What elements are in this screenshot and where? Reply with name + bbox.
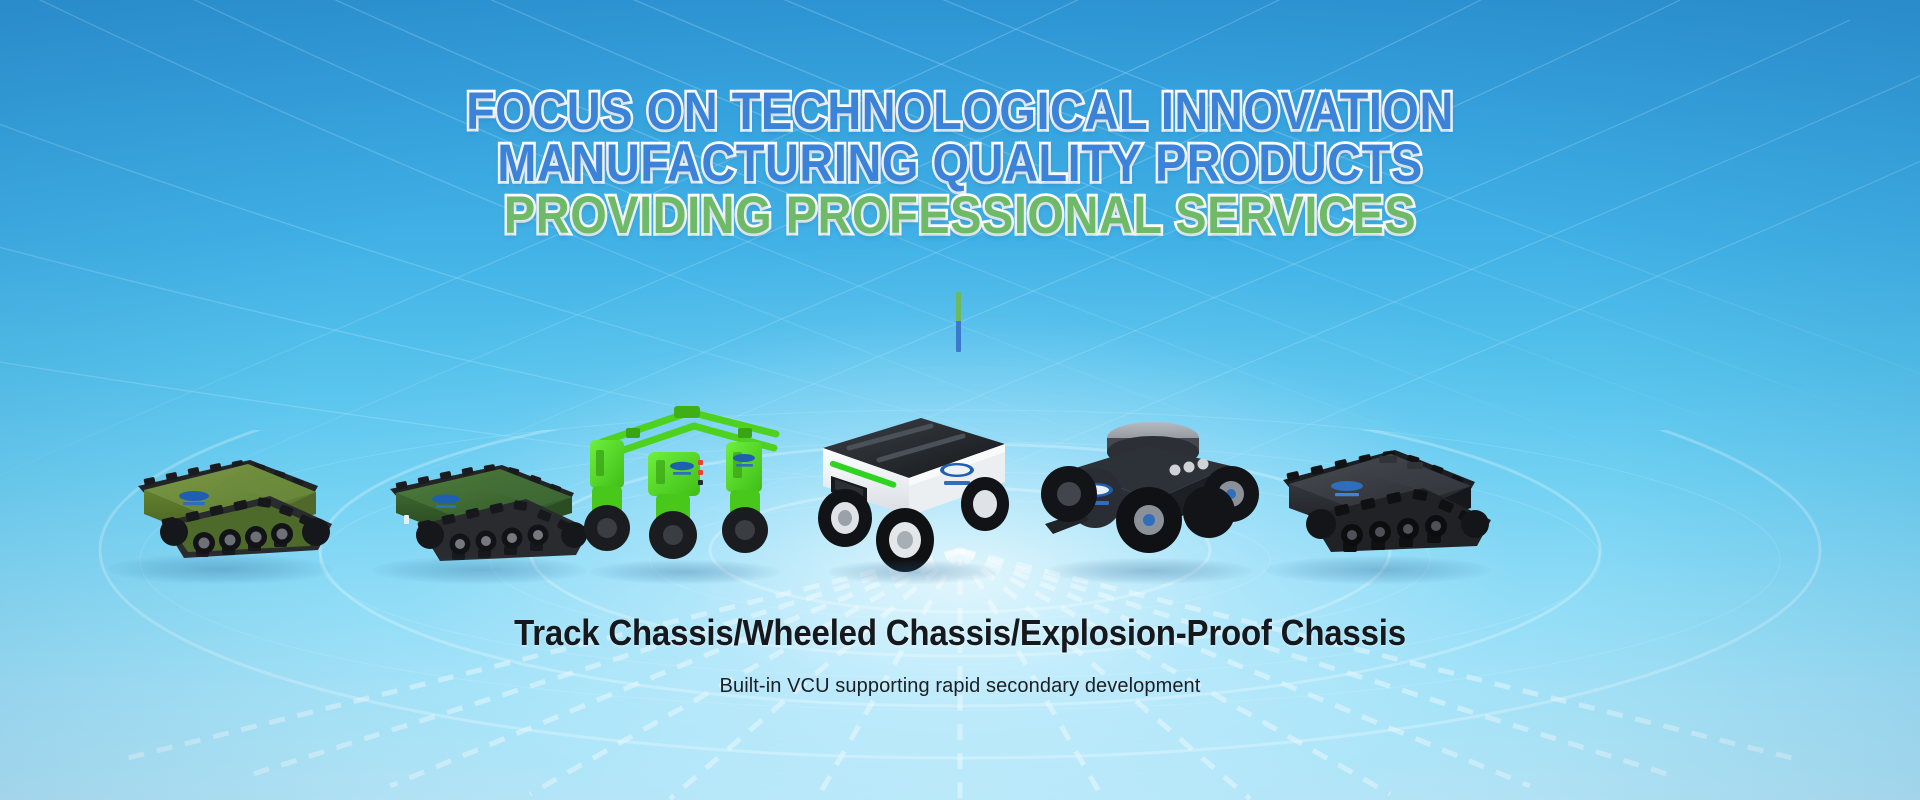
- headline-line-2: MANUFACTURING QUALITY PRODUCTS: [0, 134, 1920, 192]
- product-green-wheeled-frame[interactable]: [570, 398, 800, 578]
- brand-badge: [432, 494, 460, 508]
- product-shadow: [108, 554, 333, 584]
- product-shadow: [590, 560, 780, 584]
- product-dark-green-track-chassis[interactable]: [360, 443, 600, 578]
- product-shadow: [1048, 558, 1253, 584]
- product-shadow: [828, 560, 998, 584]
- two-tone-vertical-divider: [956, 292, 961, 352]
- product-black-agv-chassis[interactable]: [1035, 408, 1265, 578]
- black-agv-chassis-art: [1035, 408, 1265, 578]
- product-white-delivery-robot[interactable]: [805, 408, 1020, 578]
- product-shadow: [373, 556, 588, 584]
- white-delivery-robot-art: [805, 408, 1020, 578]
- headline-line-3: PROVIDING PROFESSIONAL SERVICES: [0, 186, 1920, 244]
- footer-subtitle: Built-in VCU supporting rapid secondary …: [0, 675, 1920, 698]
- brand-badge: [733, 454, 755, 467]
- product-olive-track-chassis[interactable]: [100, 438, 340, 578]
- footer-title: Track Chassis/Wheeled Chassis/Explosion-…: [0, 612, 1920, 654]
- green-wheeled-frame-art: [570, 398, 800, 578]
- product-black-track-chassis[interactable]: [1255, 428, 1500, 578]
- headline-line-1: FOCUS ON TECHNOLOGICAL INNOVATION: [0, 82, 1920, 140]
- product-row: [0, 378, 1920, 578]
- brand-badge: [1331, 481, 1363, 496]
- headline-block: FOCUS ON TECHNOLOGICAL INNOVATION MANUFA…: [0, 82, 1920, 238]
- footer-text-block: Track Chassis/Wheeled Chassis/Explosion-…: [0, 614, 1920, 698]
- hero-banner: FOCUS ON TECHNOLOGICAL INNOVATION MANUFA…: [0, 0, 1920, 800]
- brand-badge: [179, 491, 209, 505]
- product-shadow: [1265, 556, 1490, 584]
- brand-badge: [670, 462, 694, 475]
- brand-badge: [940, 463, 974, 485]
